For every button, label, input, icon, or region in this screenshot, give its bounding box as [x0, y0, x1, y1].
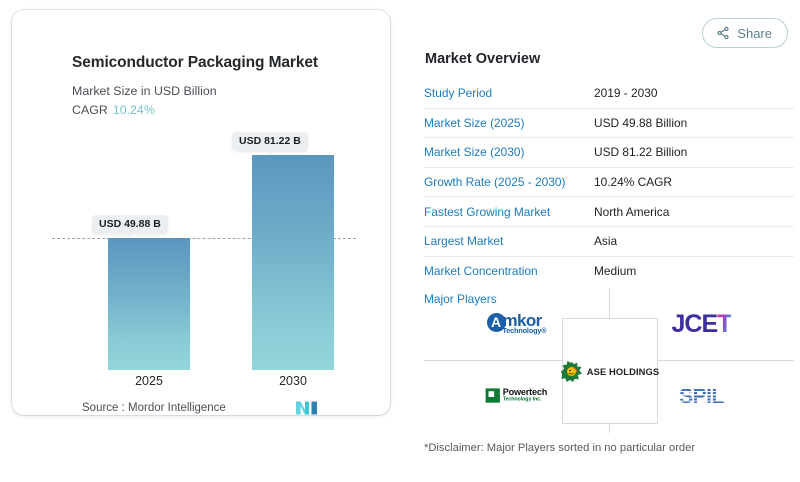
row-key: Market Size (2030)	[424, 145, 594, 159]
table-row: Market Size (2025) USD 49.88 Billion	[424, 109, 794, 139]
row-key: Market Concentration	[424, 264, 594, 278]
amkor-logo-icon: mkor Technology®	[487, 312, 547, 334]
powertech-tagline: Technology Inc.	[503, 398, 547, 404]
chart-card: Semiconductor Packaging Market Market Si…	[12, 10, 390, 415]
players-disclaimer: *Disclaimer: Major Players sorted in no …	[424, 442, 695, 454]
chart-cagr: CAGR10.24%	[72, 103, 155, 117]
major-players-grid: mkor Technology® JCET Powertech Technolo…	[424, 288, 794, 433]
row-value: USD 81.22 Billion	[594, 145, 687, 159]
overview-panel: Share Market Overview Study Period 2019 …	[406, 0, 800, 482]
chart-subtitle: Market Size in USD Billion	[72, 84, 217, 98]
bar-2030[interactable]	[252, 155, 334, 370]
share-button[interactable]: Share	[702, 18, 788, 48]
infographic-root: Semiconductor Packaging Market Market Si…	[0, 0, 800, 482]
row-value: Medium	[594, 264, 636, 278]
row-key: Largest Market	[424, 234, 594, 248]
cagr-value: 10.24%	[113, 103, 155, 117]
row-key: Study Period	[424, 86, 594, 100]
jcet-part2: T	[717, 310, 731, 338]
row-value: 10.24% CAGR	[594, 175, 672, 189]
source-name: Mordor Intelligence	[128, 402, 226, 414]
row-value: North America	[594, 205, 669, 219]
row-value: 2019 - 2030	[594, 86, 657, 100]
x-axis-tick-2030: 2030	[252, 374, 334, 388]
share-network-icon	[716, 26, 730, 40]
amkor-tagline: Technology®	[503, 327, 547, 334]
table-row: Largest Market Asia	[424, 227, 794, 257]
ase-sun-icon	[561, 361, 582, 382]
chart-title: Semiconductor Packaging Market	[72, 54, 318, 72]
table-row: Growth Rate (2025 - 2030) 10.24% CAGR	[424, 168, 794, 198]
bar-2025[interactable]	[108, 238, 190, 370]
jcet-part1: JCE	[672, 310, 718, 338]
bar-label-2025: USD 49.88 B	[92, 215, 168, 234]
ase-logo-group: ASE HOLDINGS	[561, 361, 660, 382]
row-key: Growth Rate (2025 - 2030)	[424, 175, 594, 189]
jcet-logo-icon: JCET	[672, 312, 732, 337]
powertech-square-icon	[486, 389, 500, 403]
ase-wordmark: ASE HOLDINGS	[587, 366, 660, 377]
spil-logo-icon: SPIL	[679, 386, 724, 407]
share-button-label: Share	[737, 26, 772, 41]
row-value: USD 49.88 Billion	[594, 116, 687, 130]
powertech-wordmark: Powertech Technology Inc.	[503, 388, 547, 403]
row-key: Market Size (2025)	[424, 116, 594, 130]
powertech-logo-icon: Powertech Technology Inc.	[486, 388, 547, 403]
amkor-wordmark: mkor Technology®	[503, 312, 547, 334]
row-key: Fastest Growing Market	[424, 205, 594, 219]
amkor-badge-icon	[487, 313, 506, 332]
source-label: Source :	[82, 402, 125, 414]
bar-chart-plot: USD 49.88 B USD 81.22 B 2025 2030	[40, 130, 370, 370]
chart-source: Source : Mordor Intelligence	[82, 402, 226, 414]
player-logo-ase-holdings[interactable]: ASE HOLDINGS	[562, 318, 658, 424]
table-row: Study Period 2019 - 2030	[424, 79, 794, 109]
table-row: Fastest Growing Market North America	[424, 197, 794, 227]
x-axis-tick-2025: 2025	[108, 374, 190, 388]
cagr-label: CAGR	[72, 103, 108, 117]
mordor-intelligence-logo-icon	[295, 399, 321, 417]
overview-title: Market Overview	[425, 51, 540, 67]
bar-label-2030: USD 81.22 B	[232, 132, 308, 151]
row-value: Asia	[594, 234, 617, 248]
overview-table: Study Period 2019 - 2030 Market Size (20…	[424, 79, 794, 285]
table-row: Market Size (2030) USD 81.22 Billion	[424, 138, 794, 168]
table-row: Market Concentration Medium	[424, 257, 794, 286]
